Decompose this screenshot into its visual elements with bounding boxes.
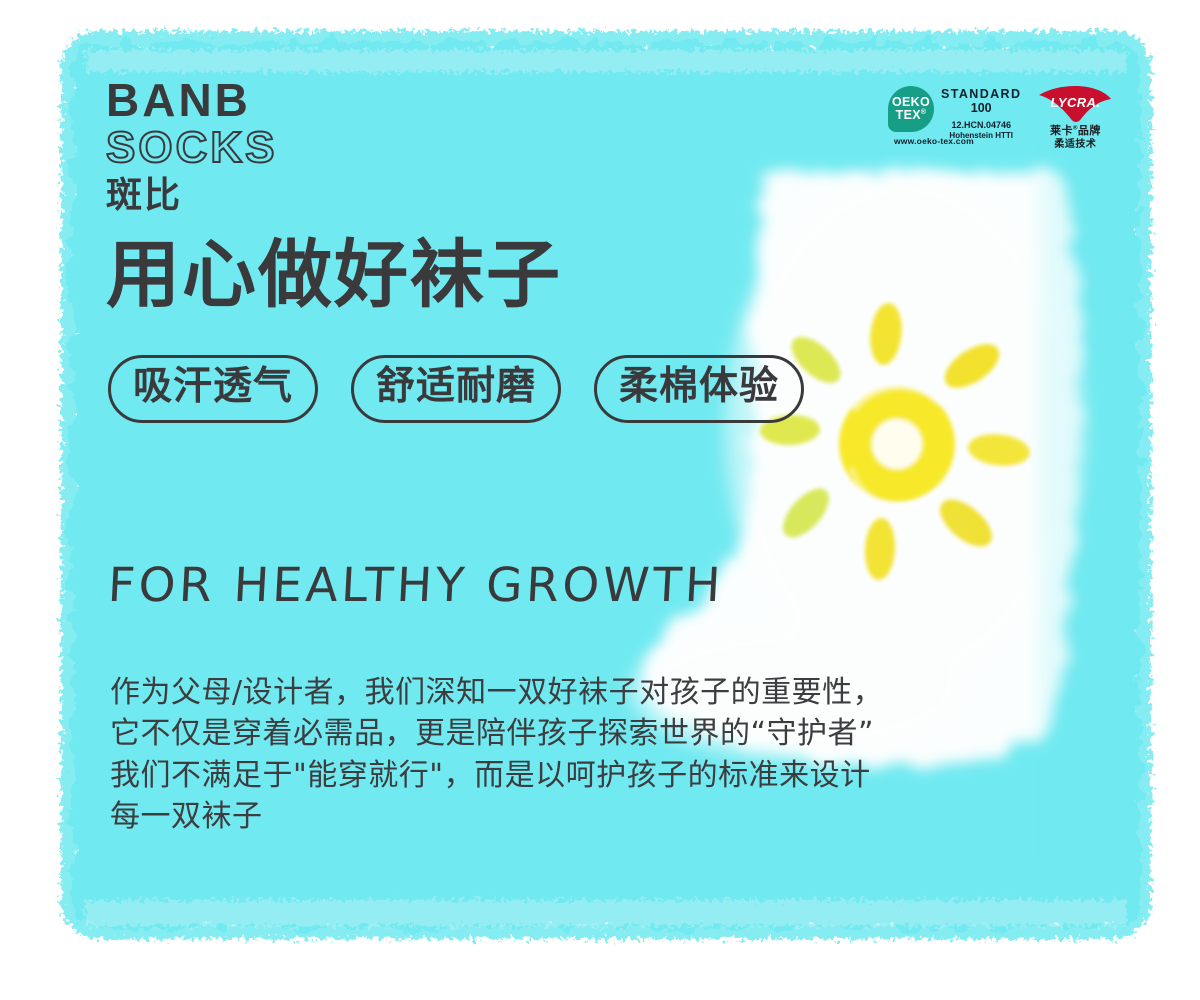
- lycra-badge: LYCRA. 莱卡®品牌 柔适技术: [1039, 86, 1111, 151]
- english-tagline: FOR HEALTHY GROWTH: [107, 558, 726, 613]
- brand-logo: BANB SOCKS 斑比: [106, 78, 277, 215]
- logo-socks-text: SOCKS: [106, 125, 277, 171]
- lycra-wordmark: LYCRA.: [1039, 95, 1111, 110]
- lycra-chinese-tech: 柔适技术: [1039, 139, 1111, 152]
- oeko-tex-badge: OEKO TEX® STANDARD 100 12.HCN.04746 Hohe…: [888, 86, 1021, 141]
- certification-badges: OEKO TEX® STANDARD 100 12.HCN.04746 Hohe…: [888, 86, 1111, 151]
- oeko-website-url: www.oeko-tex.com: [894, 136, 974, 146]
- body-paragraph: 作为父母/设计者，我们深知一双好袜子对孩子的重要性， 它不仅是穿着必需品，更是陪…: [110, 672, 883, 838]
- feature-pill-1: 吸汗透气: [108, 355, 318, 423]
- oeko-standard-label: STANDARD: [941, 87, 1021, 101]
- logo-chinese-text: 斑比: [106, 175, 277, 215]
- oeko-certificate-code: 12.HCN.04746: [941, 120, 1021, 131]
- headline: 用心做好袜子: [106, 238, 562, 312]
- oeko-standard-number: 100: [941, 101, 1021, 116]
- logo-banb-text: BANB: [106, 78, 277, 123]
- oeko-tex-details: STANDARD 100 12.HCN.04746 Hohenstein HTT…: [941, 86, 1021, 141]
- feature-pill-list: 吸汗透气 舒适耐磨 柔棉体验: [108, 355, 804, 423]
- oeko-tex-logo-icon: OEKO TEX®: [888, 86, 934, 132]
- lycra-logo-icon: LYCRA.: [1039, 86, 1111, 124]
- oeko-mark-line1: OEKO: [892, 96, 930, 109]
- oeko-mark-line2: TEX®: [896, 109, 927, 122]
- product-banner: BANB SOCKS 斑比 OEKO TEX® STANDARD 100 12.…: [0, 0, 1200, 1000]
- feature-pill-2: 舒适耐磨: [351, 355, 561, 423]
- feature-pill-3: 柔棉体验: [594, 355, 804, 423]
- lycra-chinese-brand: 莱卡®品牌: [1039, 125, 1111, 139]
